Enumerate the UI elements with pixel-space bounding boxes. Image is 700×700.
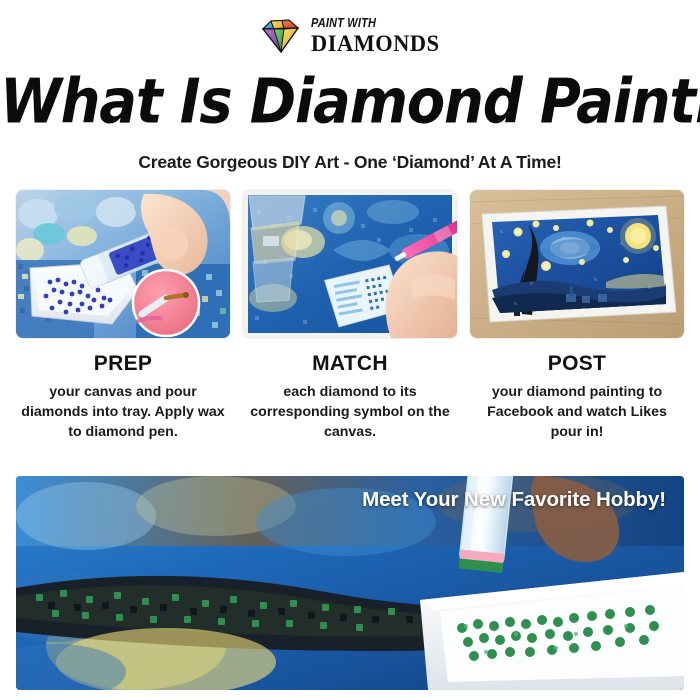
step-match-body: each diamond to its corresponding symbol… xyxy=(243,382,457,442)
banner-headline: Meet Your New Favorite Hobby! xyxy=(362,488,666,512)
page-subtitle: Create Gorgeous DIY Art - One ‘Diamond’ … xyxy=(0,152,700,173)
diamond-gem-icon xyxy=(257,16,303,56)
logo-line-1: PAINT WITH xyxy=(311,17,376,30)
step-match-title: MATCH xyxy=(243,352,457,375)
step-match-photo xyxy=(243,190,457,338)
steps-row: PREP your canvas and pour diamonds into … xyxy=(16,190,684,443)
step-post-caption: POST your diamond painting to Facebook a… xyxy=(470,352,684,443)
logo-wordmark: PAINT WITH DIAMONDS xyxy=(311,17,444,55)
step-post-title: POST xyxy=(470,352,684,375)
page-title: What Is Diamond Painting? xyxy=(0,72,700,134)
logo-line-2: DIAMONDS xyxy=(311,32,440,55)
step-prep: PREP your canvas and pour diamonds into … xyxy=(16,190,230,443)
step-post-photo xyxy=(470,190,684,338)
step-post-body: your diamond painting to Facebook and wa… xyxy=(470,382,684,442)
infographic-page: PAINT WITH DIAMONDS What Is Diamond Pain… xyxy=(0,0,700,700)
step-match-caption: MATCH each diamond to its corresponding … xyxy=(243,352,457,443)
step-prep-body: your canvas and pour diamonds into tray.… xyxy=(16,382,230,442)
step-post: POST your diamond painting to Facebook a… xyxy=(470,190,684,443)
hero-banner: Meet Your New Favorite Hobby! xyxy=(16,476,684,690)
step-prep-title: PREP xyxy=(16,352,230,375)
step-prep-caption: PREP your canvas and pour diamonds into … xyxy=(16,352,230,443)
brand-logo: PAINT WITH DIAMONDS xyxy=(0,10,700,62)
step-prep-photo xyxy=(16,190,230,338)
step-match: MATCH each diamond to its corresponding … xyxy=(243,190,457,443)
